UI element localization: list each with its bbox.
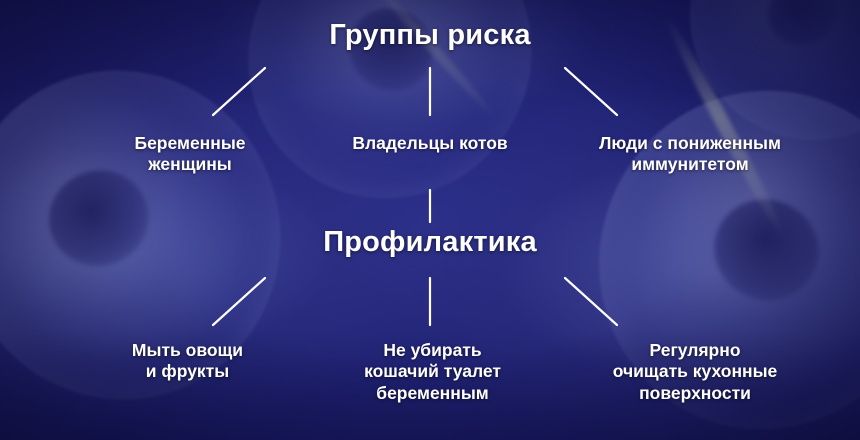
connector-risk-left (213, 68, 265, 115)
risk-item-cat-owners: Владельцы котов (310, 133, 550, 154)
section-title-risk-groups: Группы риска (230, 18, 630, 53)
connector-prevention-left (213, 278, 265, 325)
infographic-canvas: Группы риска Беременные женщины Владельц… (0, 0, 860, 440)
prevention-item-wash-produce: Мыть овощи и фрукты (65, 340, 310, 383)
connector-prevention-right (565, 278, 617, 325)
prevention-item-litter-box: Не убирать кошачий туалет беременным (310, 340, 555, 404)
risk-item-immunocompromised: Люди с пониженным иммунитетом (550, 133, 830, 176)
diagram-overlay: Группы риска Беременные женщины Владельц… (0, 0, 860, 440)
connector-risk-right (565, 68, 617, 115)
prevention-item-clean-kitchen: Регулярно очищать кухонные поверхности (555, 340, 835, 404)
risk-item-pregnant-women: Беременные женщины (70, 133, 310, 176)
section-title-prevention: Профилактика (230, 225, 630, 260)
